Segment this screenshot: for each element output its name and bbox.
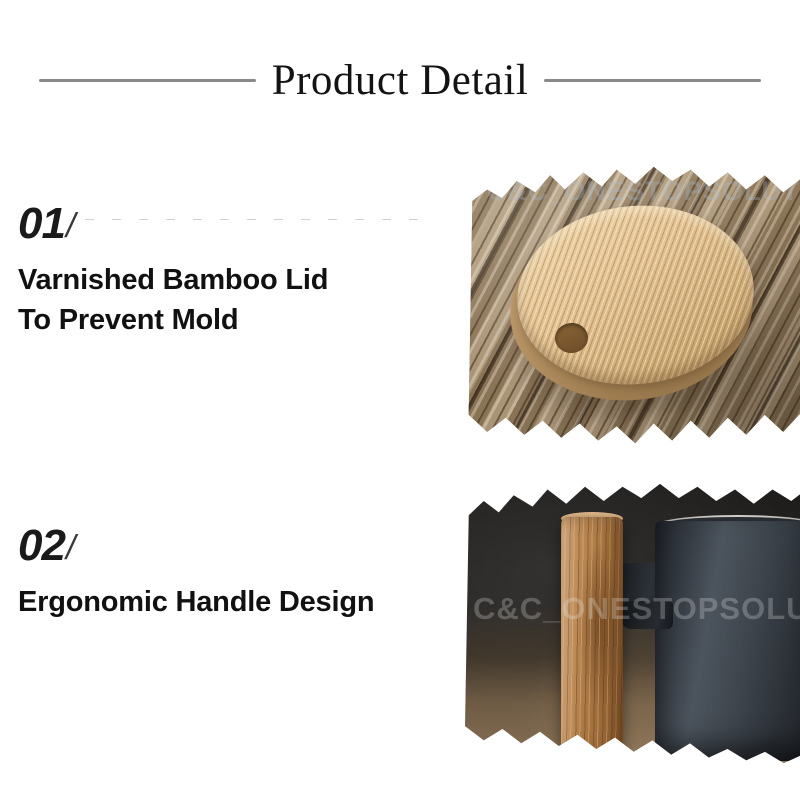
mug-handle-scene bbox=[465, 481, 800, 766]
feature-02-headline-line-1: Ergonomic Handle Design bbox=[18, 582, 418, 622]
mug-handle-lower-arm bbox=[621, 601, 673, 629]
feature-02-separator: / bbox=[66, 528, 75, 568]
feature-01-copy: 01 / Varnished Bamboo Lid To Prevent Mol… bbox=[18, 198, 418, 340]
feature-section-02: 02 / Ergonomic Handle Design C&C_ONESTOP… bbox=[0, 460, 800, 750]
feature-01-headline: Varnished Bamboo Lid To Prevent Mold bbox=[18, 260, 418, 340]
feature-01-number-row: 01 / bbox=[18, 198, 418, 246]
feature-01-dashed-trail bbox=[85, 219, 418, 220]
feature-01-number: 01 bbox=[18, 202, 65, 246]
page-title: Product Detail bbox=[272, 59, 529, 102]
feature-01-image[interactable]: C&C_ONESTOPSOLUTION bbox=[465, 164, 800, 449]
page-header: Product Detail bbox=[0, 52, 800, 108]
feature-01-headline-line-1: Varnished Bamboo Lid bbox=[18, 260, 418, 300]
mug-body bbox=[655, 521, 800, 761]
header-rule-left bbox=[39, 79, 256, 82]
feature-02-image[interactable]: C&C_ONESTOPSOLUTION bbox=[465, 481, 800, 766]
bamboo-lid-scene bbox=[465, 164, 800, 449]
feature-02-headline: Ergonomic Handle Design bbox=[18, 582, 418, 622]
feature-02-copy: 02 / Ergonomic Handle Design bbox=[18, 520, 418, 622]
feature-02-number-row: 02 / bbox=[18, 520, 418, 568]
wooden-handle bbox=[561, 517, 623, 755]
feature-section-01: 01 / Varnished Bamboo Lid To Prevent Mol… bbox=[0, 140, 800, 440]
wooden-handle-bottom-cap bbox=[562, 747, 622, 759]
feature-02-number: 02 bbox=[18, 524, 65, 568]
header-rule-right bbox=[544, 79, 761, 82]
feature-01-separator: / bbox=[66, 206, 75, 246]
feature-01-headline-line-2: To Prevent Mold bbox=[18, 300, 418, 340]
